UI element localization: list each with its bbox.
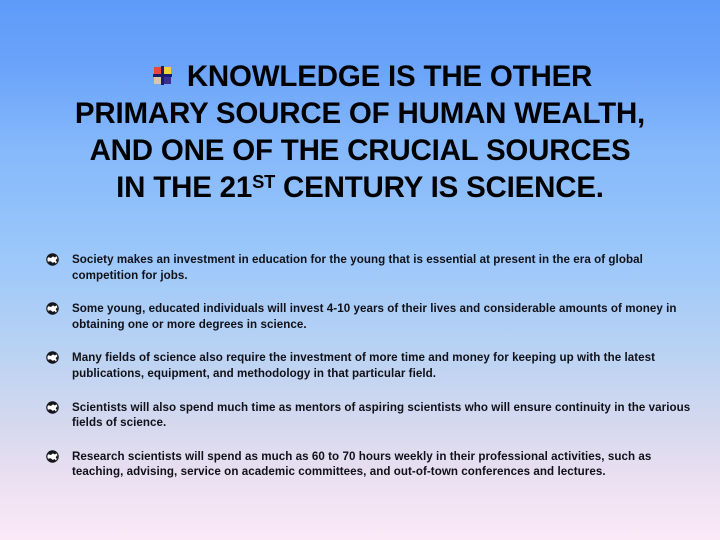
multicolor-quadrant-icon bbox=[154, 67, 171, 84]
title-line-2: PRIMARY SOURCE OF HUMAN WEALTH, bbox=[16, 95, 704, 132]
title-line-4-suffix: CENTURY IS SCIENCE. bbox=[275, 171, 604, 204]
list-item: Many fields of science also require the … bbox=[44, 350, 692, 381]
list-item-text: Society makes an investment in education… bbox=[72, 252, 692, 283]
list-item-text: Some young, educated individuals will in… bbox=[72, 301, 692, 332]
list-item-text: Many fields of science also require the … bbox=[72, 350, 692, 381]
presentation-slide: KNOWLEDGE IS THE OTHER PRIMARY SOURCE OF… bbox=[0, 0, 720, 540]
globe-icon bbox=[46, 302, 59, 315]
bullet-list: Society makes an investment in education… bbox=[44, 252, 692, 480]
globe-icon bbox=[46, 253, 59, 266]
title-line-3: AND ONE OF THE CRUCIAL SOURCES bbox=[16, 132, 704, 169]
slide-title: KNOWLEDGE IS THE OTHER PRIMARY SOURCE OF… bbox=[16, 58, 704, 209]
title-line-4-prefix: IN THE 21 bbox=[116, 171, 252, 204]
list-item: Some young, educated individuals will in… bbox=[44, 301, 692, 332]
list-item-text: Research scientists will spend as much a… bbox=[72, 449, 692, 480]
title-line-1: KNOWLEDGE IS THE OTHER bbox=[16, 58, 704, 95]
list-item-text: Scientists will also spend much time as … bbox=[72, 400, 692, 431]
title-line-1-text: KNOWLEDGE IS THE OTHER bbox=[187, 60, 592, 93]
list-item: Research scientists will spend as much a… bbox=[44, 449, 692, 480]
title-line-4: IN THE 21ST CENTURY IS SCIENCE. bbox=[16, 169, 704, 209]
list-item: Scientists will also spend much time as … bbox=[44, 400, 692, 431]
list-item: Society makes an investment in education… bbox=[44, 252, 692, 283]
globe-icon bbox=[46, 401, 59, 414]
globe-icon bbox=[46, 450, 59, 463]
globe-icon bbox=[46, 351, 59, 364]
ordinal-suffix: ST bbox=[252, 171, 275, 192]
